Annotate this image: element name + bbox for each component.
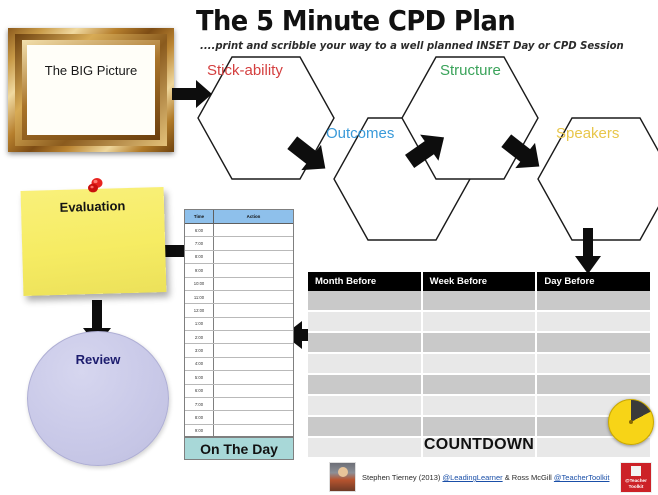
big-picture-frame: The BIG Picture [8, 28, 174, 152]
countdown-cell[interactable] [423, 396, 538, 417]
countdown-cell[interactable] [537, 354, 650, 375]
review-circle[interactable]: Review [27, 331, 169, 466]
arrow-outcomes-to-structure [404, 130, 449, 170]
countdown-cell[interactable] [423, 291, 538, 312]
timetable-time-cell: 9:00 [185, 425, 214, 437]
timetable-row[interactable]: 8:00 [185, 411, 293, 424]
timetable-action-cell[interactable] [214, 398, 293, 410]
timetable-action-cell[interactable] [214, 251, 293, 263]
timetable-action-cell[interactable] [214, 291, 293, 303]
timetable-row[interactable]: 11:00 [185, 291, 293, 304]
countdown-cell[interactable] [537, 312, 650, 333]
timetable-row[interactable]: 8:00 [185, 251, 293, 264]
page-title: The 5 Minute CPD Plan [196, 4, 515, 37]
poster-canvas: The 5 Minute CPD Plan ....print and scri… [0, 0, 658, 495]
credit-prefix: Stephen Tierney (2013) [362, 473, 442, 482]
countdown-cell[interactable] [308, 396, 423, 417]
timetable-action-cell[interactable] [214, 344, 293, 356]
countdown-cell[interactable] [308, 291, 423, 312]
countdown-cell[interactable] [308, 354, 423, 375]
timetable-header-row: Time Action [185, 210, 293, 224]
hexagon-label-structure: Structure [440, 62, 501, 79]
countdown-row[interactable] [308, 417, 650, 438]
evaluation-sticky-note[interactable]: Evaluation [21, 187, 167, 296]
hexagon-label-stickability: Stick-ability [207, 62, 283, 79]
timetable-time-cell: 9:00 [185, 264, 214, 276]
timetable-time-cell: 8:00 [185, 411, 214, 423]
pushpin-icon [85, 178, 105, 200]
countdown-cell[interactable] [423, 312, 538, 333]
author-avatar [329, 462, 356, 492]
countdown-col-day-before: Day Before [537, 272, 650, 291]
countdown-row[interactable] [308, 396, 650, 417]
timetable-action-cell[interactable] [214, 304, 293, 316]
countdown-row[interactable] [308, 375, 650, 396]
timetable-row[interactable]: 10:00 [185, 278, 293, 291]
timetable-row[interactable]: 9:00 [185, 264, 293, 277]
logo-mark-icon [631, 466, 641, 476]
timetable-row[interactable]: 1:00 [185, 318, 293, 331]
timetable-action-cell[interactable] [214, 224, 293, 236]
frame-canvas-area[interactable]: The BIG Picture [27, 45, 155, 135]
hexagon-label-outcomes: Outcomes [326, 125, 394, 142]
timetable-col-time: Time [185, 210, 214, 223]
countdown-cell[interactable] [423, 375, 538, 396]
timetable-time-cell: 1:00 [185, 318, 214, 330]
countdown-table[interactable]: Month Before Week Before Day Before COUN… [308, 272, 650, 459]
timetable-action-cell[interactable] [214, 318, 293, 330]
arrow-speakers-to-countdown [574, 228, 602, 274]
countdown-row[interactable] [308, 312, 650, 333]
on-the-day-banner: On The Day [184, 437, 294, 460]
hexagon-label-speakers: Speakers [556, 125, 619, 142]
countdown-cell[interactable] [423, 354, 538, 375]
timetable-time-cell: 10:00 [185, 278, 214, 290]
countdown-cell[interactable] [308, 375, 423, 396]
handle-teachertoolkit[interactable]: @TeacherToolkit [554, 473, 610, 482]
handle-leadinglearner[interactable]: @LeadingLearner [442, 473, 502, 482]
timetable-row[interactable]: 6:00 [185, 224, 293, 237]
page-subtitle: ....print and scribble your way to a wel… [200, 40, 624, 52]
timetable-time-cell: 7:00 [185, 237, 214, 249]
countdown-row[interactable] [308, 291, 650, 312]
timetable-time-cell: 8:00 [185, 251, 214, 263]
timetable-row[interactable]: 7:00 [185, 398, 293, 411]
timetable-action-cell[interactable] [214, 411, 293, 423]
countdown-cell[interactable] [537, 291, 650, 312]
arrow-stickability-to-outcomes [286, 135, 331, 175]
timetable-row[interactable]: 4:00 [185, 358, 293, 371]
timetable-action-cell[interactable] [214, 385, 293, 397]
timetable-action-cell[interactable] [214, 331, 293, 343]
timetable-time-cell: 2:00 [185, 331, 214, 343]
credit-middle: & Ross McGill [503, 473, 554, 482]
big-picture-label: The BIG Picture [27, 63, 155, 78]
timetable-col-action: Action [214, 210, 293, 223]
countdown-col-month-before: Month Before [308, 272, 423, 291]
timetable-action-cell[interactable] [214, 278, 293, 290]
countdown-cell[interactable] [308, 333, 423, 354]
timetable-time-cell: 3:00 [185, 344, 214, 356]
timetable-body: 6:007:008:009:0010:0011:0012:001:002:003… [185, 224, 293, 437]
timetable-action-cell[interactable] [214, 264, 293, 276]
teachertoolkit-logo[interactable]: @Teacher Toolkit [620, 462, 652, 493]
logo-line-2: Toolkit [629, 484, 644, 490]
pie-timer-icon [608, 399, 654, 445]
timetable-row[interactable]: 12:00 [185, 304, 293, 317]
timetable-time-cell: 6:00 [185, 224, 214, 236]
timetable-time-cell: 6:00 [185, 385, 214, 397]
timetable-row[interactable]: 6:00 [185, 385, 293, 398]
arrow-structure-to-speakers [500, 133, 545, 173]
countdown-row[interactable] [308, 354, 650, 375]
timetable-time-cell: 7:00 [185, 398, 214, 410]
timetable-time-cell: 5:00 [185, 371, 214, 383]
countdown-header-row: Month Before Week Before Day Before [308, 272, 650, 291]
countdown-cell[interactable] [308, 417, 423, 438]
countdown-cell[interactable] [537, 333, 650, 354]
countdown-title: COUNTDOWN [308, 436, 650, 454]
countdown-cell[interactable] [423, 417, 538, 438]
countdown-col-week-before: Week Before [423, 272, 538, 291]
countdown-row[interactable] [308, 333, 650, 354]
timetable-time-cell: 11:00 [185, 291, 214, 303]
timetable-row[interactable]: 2:00 [185, 331, 293, 344]
frame-bevel-inner: The BIG Picture [22, 40, 160, 140]
countdown-body [308, 291, 650, 459]
frame-bevel-outer: The BIG Picture [15, 34, 167, 146]
countdown-cell[interactable] [308, 312, 423, 333]
timetable-time-cell: 4:00 [185, 358, 214, 370]
timetable-row[interactable]: 3:00 [185, 344, 293, 357]
review-label: Review [28, 352, 168, 367]
timetable-action-cell[interactable] [214, 425, 293, 437]
timetable-time-cell: 12:00 [185, 304, 214, 316]
countdown-cell[interactable] [423, 333, 538, 354]
timetable-action-cell[interactable] [214, 237, 293, 249]
timetable-row[interactable]: 9:00 [185, 425, 293, 437]
timetable-row[interactable]: 5:00 [185, 371, 293, 384]
timetable-row[interactable]: 7:00 [185, 237, 293, 250]
credit-line: Stephen Tierney (2013) @LeadingLearner &… [362, 473, 609, 482]
timetable-action-cell[interactable] [214, 371, 293, 383]
countdown-cell[interactable] [537, 375, 650, 396]
arrow-frame-to-stickability [172, 80, 212, 108]
on-the-day-timetable[interactable]: Time Action 6:007:008:009:0010:0011:0012… [184, 209, 294, 437]
timetable-action-cell[interactable] [214, 358, 293, 370]
